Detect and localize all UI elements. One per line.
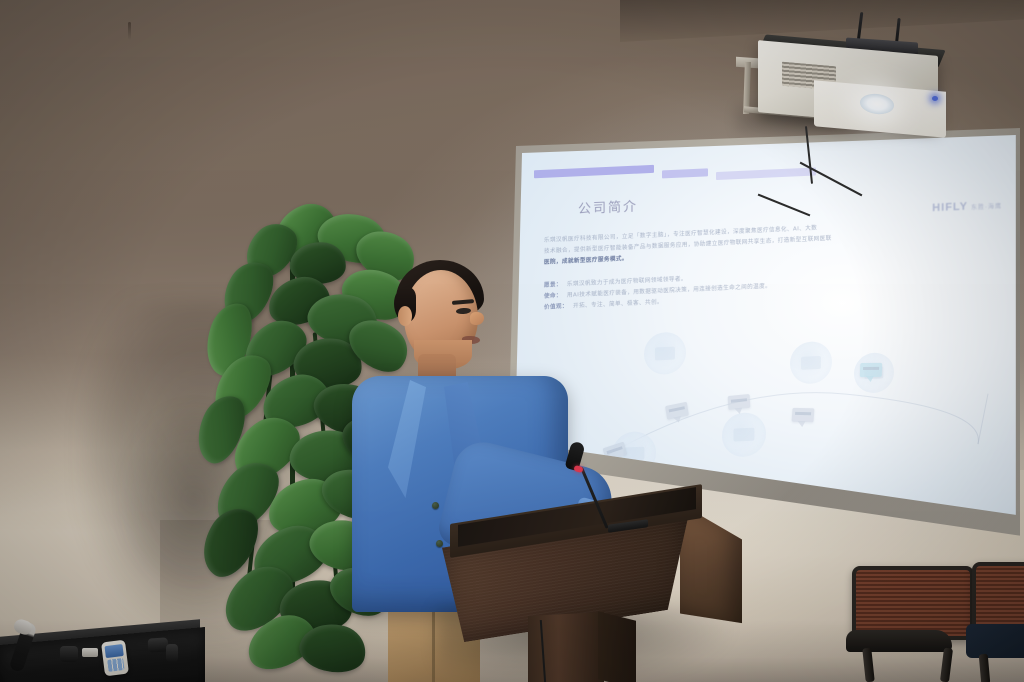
- company-logo: HIFLY 东胜·海鹰: [932, 199, 1002, 214]
- logo-wordmark: HIFLY: [932, 201, 968, 215]
- microphone-gooseneck: [580, 467, 609, 529]
- presenter-ear: [398, 306, 412, 326]
- slide-header-bars: [534, 154, 894, 196]
- presenter-nose: [470, 312, 484, 325]
- logo-subtext: 东胜·海鹰: [971, 201, 1002, 211]
- conference-room-scene: 公司简介 HIFLY 东胜·海鹰 乐琪汉帆医疗科技有限公司，立足「数字主脑」，专…: [0, 0, 1024, 682]
- ceiling-projector: [736, 18, 970, 140]
- jacket-button: [432, 502, 439, 509]
- gooseneck-microphone: [560, 440, 690, 540]
- header-bar-tertiary: [716, 167, 816, 180]
- remote-keypad[interactable]: [107, 658, 124, 672]
- slide-title: 公司简介: [578, 196, 638, 218]
- power-led-indicator: [932, 96, 938, 101]
- remote-control[interactable]: [101, 640, 129, 677]
- timeline-node-highlight: [860, 363, 882, 377]
- audio-knob[interactable]: [60, 646, 78, 662]
- wall-mark: [128, 22, 131, 40]
- timeline-node: [792, 408, 815, 423]
- podium-column-side: [598, 611, 636, 682]
- microphone-base: [608, 519, 648, 533]
- chair-leg: [940, 648, 953, 682]
- mesh-chair-2: [972, 562, 1024, 682]
- audio-knob[interactable]: [166, 644, 178, 662]
- chair-backrest: [852, 566, 974, 640]
- timeline-node: [728, 394, 751, 410]
- header-bar-primary: [534, 165, 654, 178]
- connector-plug: [82, 648, 98, 657]
- chair-seat: [966, 624, 1024, 658]
- chair-leg: [862, 648, 875, 682]
- header-bar-secondary: [662, 168, 708, 178]
- remote-display: [104, 644, 123, 658]
